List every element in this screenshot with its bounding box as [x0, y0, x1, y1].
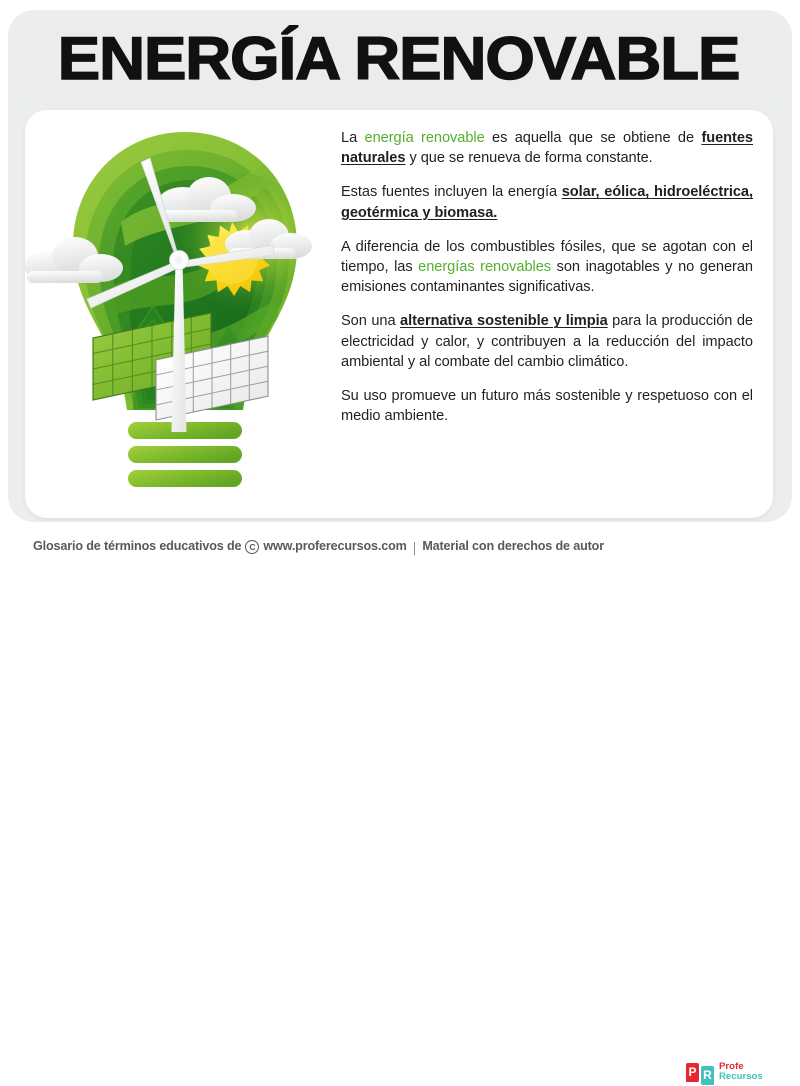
article-text: La energía renovable es aquella que se o… — [341, 128, 753, 508]
footer-site-url[interactable]: www.proferecursos.com — [263, 539, 406, 553]
footer-lead: Glosario de términos educativos de — [33, 539, 241, 553]
logo-word-recursos: Recursos — [719, 1072, 763, 1082]
proferecursos-logo[interactable]: P R Profe Recursos — [686, 1058, 778, 1086]
paragraph-5: Su uso promueve un futuro más sostenible… — [341, 386, 753, 426]
footer-rights: Material con derechos de autor — [422, 539, 604, 553]
p4-run-0: Son una — [341, 313, 400, 329]
logo-marks: P R — [686, 1063, 714, 1082]
p1-run-4: y que se renueva de forma constante. — [405, 150, 652, 166]
page-title: ENERGÍA RENOVABLE — [58, 29, 740, 89]
content-card: La energía renovable es aquella que se o… — [25, 110, 773, 518]
infographic-page: ENERGÍA RENOVABLE — [0, 0, 800, 566]
p5-run-0: Su uso promueve un futuro más sostenible… — [341, 388, 753, 424]
copyright-icon: C — [245, 540, 259, 554]
title-bar: ENERGÍA RENOVABLE — [25, 22, 773, 98]
footer: Glosario de términos educativos de C www… — [0, 526, 800, 566]
renewable-energy-illustration — [25, 110, 345, 518]
p3-run-1-green: energías renovables — [418, 259, 551, 275]
logo-mark-p: P — [686, 1063, 699, 1082]
p1-run-1-green: energía renovable — [365, 130, 485, 146]
p1-run-0: La — [341, 130, 365, 146]
logo-word-profe: Profe — [719, 1062, 763, 1072]
footer-divider — [414, 542, 416, 555]
p1-run-2: es aquella que se obtiene de — [485, 130, 702, 146]
p2-run-0: Estas fuentes incluyen la energía — [341, 184, 562, 200]
p4-run-1-underline: alternativa sostenible y limpia — [400, 313, 608, 329]
paragraph-4: Son una alternativa sostenible y limpia … — [341, 311, 753, 372]
paragraph-3: A diferencia de los combustibles fósiles… — [341, 237, 753, 298]
paragraph-1: La energía renovable es aquella que se o… — [341, 128, 753, 168]
logo-wordmark: Profe Recursos — [719, 1062, 763, 1081]
footer-attribution: Glosario de términos educativos de C www… — [33, 526, 604, 566]
paragraph-2: Estas fuentes incluyen la energía solar,… — [341, 182, 753, 222]
logo-mark-r: R — [701, 1066, 714, 1085]
